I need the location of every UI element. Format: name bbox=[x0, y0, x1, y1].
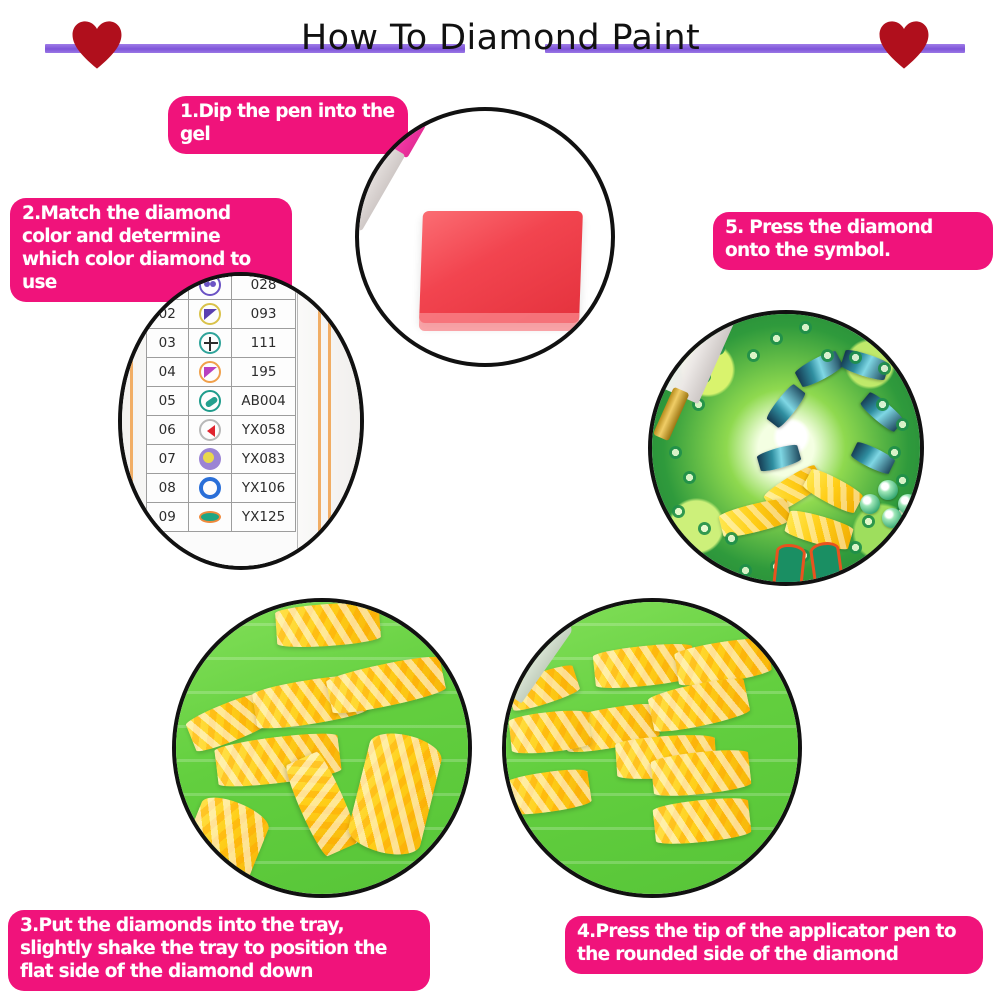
canvas-printed-leaf bbox=[771, 543, 806, 586]
chart-code-cell bbox=[147, 272, 189, 300]
gel-pad-image bbox=[419, 211, 583, 323]
chart-number-cell: AB004 bbox=[232, 387, 296, 416]
canvas-symbol-dot bbox=[896, 418, 909, 431]
chart-number-cell: 195 bbox=[232, 358, 296, 387]
double-dot-circle-icon bbox=[199, 274, 221, 296]
leaf-icon bbox=[199, 506, 221, 528]
canvas-symbol-dot bbox=[896, 474, 909, 487]
step-4-photo bbox=[502, 598, 802, 898]
step-3-photo bbox=[172, 598, 472, 898]
canvas-symbol-dot bbox=[683, 471, 696, 484]
chart-number-cell: 093 bbox=[232, 300, 296, 329]
canvas-symbol-dot bbox=[878, 362, 891, 375]
page-title: How To Diamond Paint bbox=[0, 18, 1001, 58]
table-row: 08YX106 bbox=[147, 474, 296, 503]
table-row: 07YX083 bbox=[147, 445, 296, 474]
table-row: 05AB004 bbox=[147, 387, 296, 416]
chart-code-cell: 04 bbox=[147, 358, 189, 387]
chart-code-cell: 03 bbox=[147, 329, 189, 358]
applicator-pen-icon bbox=[355, 107, 428, 261]
chart-symbol-cell bbox=[188, 474, 232, 503]
diamond-gem bbox=[898, 494, 918, 514]
canvas-symbol-dot bbox=[849, 351, 862, 364]
ring-icon bbox=[199, 477, 221, 499]
chart-number-cell: YX058 bbox=[232, 416, 296, 445]
chart-symbol-cell bbox=[188, 300, 232, 329]
chart-number-cell: 028 bbox=[232, 272, 296, 300]
diamond-gem bbox=[878, 480, 898, 500]
chart-code-cell: 07 bbox=[147, 445, 189, 474]
table-row: 06YX058 bbox=[147, 416, 296, 445]
diamond-gem bbox=[801, 466, 864, 516]
canvas-symbol-dot bbox=[725, 532, 738, 545]
left-arrow-icon bbox=[199, 419, 221, 441]
chart-symbol-cell bbox=[188, 329, 232, 358]
chart-number-cell: YX125 bbox=[232, 503, 296, 532]
chart-code-cell: 02 bbox=[147, 300, 189, 329]
canvas-symbol-dot bbox=[747, 349, 760, 362]
step-5-label: 5. Press the diamond onto the symbol. bbox=[713, 212, 993, 270]
chart-number-cell: 111 bbox=[232, 329, 296, 358]
triangle-icon bbox=[199, 361, 221, 383]
diamond-gem bbox=[850, 440, 897, 476]
chart-symbol-cell bbox=[188, 445, 232, 474]
table-row: 09YX125 bbox=[147, 503, 296, 532]
triangle-icon bbox=[199, 303, 221, 325]
canvas-symbol-dot bbox=[799, 321, 812, 334]
chart-code-cell: 08 bbox=[147, 474, 189, 503]
chart-symbol-cell bbox=[188, 358, 232, 387]
table-row: 03111 bbox=[147, 329, 296, 358]
step-2-photo: 02802093031110419505AB00406YX05807YX0830… bbox=[118, 272, 364, 570]
step-3-label: 3.Put the diamonds into the tray, slight… bbox=[8, 910, 430, 991]
canvas-symbol-dot bbox=[821, 349, 834, 362]
canvas-symbol-dot bbox=[672, 505, 685, 518]
table-row: 028 bbox=[147, 272, 296, 300]
chart-symbol-cell bbox=[188, 272, 232, 300]
chart-symbol-cell bbox=[188, 416, 232, 445]
chart-number-cell: YX083 bbox=[232, 445, 296, 474]
chart-code-cell: 06 bbox=[147, 416, 189, 445]
canvas-symbol-dot bbox=[876, 398, 889, 411]
diamond-gem bbox=[882, 508, 902, 528]
page-header: How To Diamond Paint bbox=[0, 0, 1001, 80]
infographic-page: How To Diamond Paint 1.Dip the pen into … bbox=[0, 0, 1001, 1001]
canvas-symbol-dot bbox=[849, 541, 862, 554]
slash-oval-icon bbox=[199, 390, 221, 412]
chart-symbol-cell bbox=[188, 387, 232, 416]
canvas-symbol-dot bbox=[698, 522, 711, 535]
chart-symbol-cell bbox=[188, 503, 232, 532]
canvas-symbol-dot bbox=[739, 564, 752, 577]
canvas-symbol-dot bbox=[862, 515, 875, 528]
step-5-photo bbox=[648, 310, 924, 586]
step-4-label: 4.Press the tip of the applicator pen to… bbox=[565, 916, 983, 974]
diamond-gem bbox=[756, 443, 802, 474]
plus-icon bbox=[199, 332, 221, 354]
step-1-photo bbox=[355, 107, 615, 367]
diamond-gem bbox=[860, 494, 880, 514]
chart-number-cell: YX106 bbox=[232, 474, 296, 503]
chart-code-cell: 05 bbox=[147, 387, 189, 416]
table-row: 02093 bbox=[147, 300, 296, 329]
canvas-symbol-dot bbox=[888, 446, 901, 459]
diamond-gem bbox=[794, 348, 845, 389]
canvas-symbol-dot bbox=[770, 332, 783, 345]
table-row: 04195 bbox=[147, 358, 296, 387]
diamond-gem bbox=[765, 383, 808, 430]
chart-code-cell: 09 bbox=[147, 503, 189, 532]
filled-dot-icon bbox=[199, 448, 221, 470]
color-symbol-table: 02802093031110419505AB00406YX05807YX0830… bbox=[146, 272, 296, 532]
